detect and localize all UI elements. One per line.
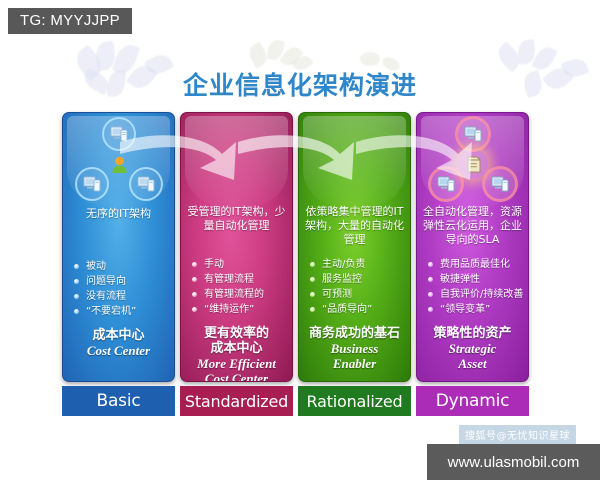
list-item: 手动 <box>191 257 288 272</box>
summary-en-line1: More Efficient <box>184 356 289 371</box>
summary-cn: 策略性的资产 <box>420 326 525 341</box>
url-watermark: www.ulasmobil.com <box>427 444 600 480</box>
computer-icon <box>431 169 461 199</box>
list-item: 可预测 <box>309 287 406 302</box>
summary-cn-line1: 更有效率的 <box>184 326 289 341</box>
list-item: “不要宕机” <box>73 304 170 319</box>
list-item: 问题导向 <box>73 274 170 289</box>
stage-label-rationalized[interactable]: Rationalized <box>298 386 411 416</box>
list-item: 主动/负责 <box>309 257 406 272</box>
summary-en-line2: Asset <box>420 356 525 371</box>
column-summary: 策略性的资产 Strategic Asset <box>417 326 528 371</box>
column-basic[interactable]: 无序的IT架构 被动 问题导向 没有流程 “不要宕机” 成本中心 Cost Ce… <box>62 112 175 382</box>
list-item: 费用品质最佳化 <box>427 257 524 272</box>
server-icon <box>458 149 488 179</box>
computer-icon <box>458 119 488 149</box>
summary-en-line1: Strategic <box>420 341 525 356</box>
summary-en-line2: Cost Center <box>184 371 289 382</box>
column-headline: 依策略集中管理的IT架构，大量的自动化管理 <box>299 205 410 251</box>
computer-icon <box>77 169 107 199</box>
stage-label-basic[interactable]: Basic <box>62 386 175 416</box>
list-item: 敏捷弹性 <box>427 272 524 287</box>
list-item: 没有流程 <box>73 289 170 304</box>
summary-en-line1: Business <box>302 341 407 356</box>
column-headline: 受管理的IT架构，少量自动化管理 <box>181 205 292 251</box>
icon-cluster-rationalized <box>299 117 410 205</box>
icon-cluster-standardized <box>181 117 292 205</box>
icon-cluster-basic <box>63 117 174 205</box>
column-rationalized[interactable]: 依策略集中管理的IT架构，大量的自动化管理 主动/负责 服务监控 可预测 “品质… <box>298 112 411 382</box>
tg-watermark-badge: TG: MYYJJPP <box>8 8 132 34</box>
column-bullets: 费用品质最佳化 敏捷弹性 自我评价/持续改善 “领导变革” <box>417 257 528 317</box>
column-bullets: 被动 问题导向 没有流程 “不要宕机” <box>63 259 174 319</box>
list-item: 服务监控 <box>309 272 406 287</box>
computer-icon <box>131 169 161 199</box>
column-headline: 全自动化管理，资源弹性云化运用，企业导向的SLA <box>417 205 528 251</box>
slide-canvas: 企业信息化架构演进 <box>0 0 600 480</box>
list-item: 有管理流程的 <box>191 287 288 302</box>
column-summary: 成本中心 Cost Center <box>63 328 174 358</box>
list-item: “品质导向” <box>309 302 406 317</box>
slide-title: 企业信息化架构演进 <box>0 66 600 102</box>
column-summary: 商务成功的基石 Business Enabler <box>299 326 410 371</box>
summary-cn: 成本中心 <box>66 328 171 343</box>
list-item: 被动 <box>73 259 170 274</box>
column-summary: 更有效率的 成本中心 More Efficient Cost Center <box>181 326 292 382</box>
column-headline: 无序的IT架构 <box>63 205 174 253</box>
column-bullets: 主动/负责 服务监控 可预测 “品质导向” <box>299 257 410 317</box>
summary-en: Cost Center <box>66 343 171 358</box>
computer-icon <box>485 169 515 199</box>
list-item: 有管理流程 <box>191 272 288 287</box>
list-item: 自我评价/持续改善 <box>427 287 524 302</box>
column-standardized[interactable]: 受管理的IT架构，少量自动化管理 手动 有管理流程 有管理流程的 “维持运作” … <box>180 112 293 382</box>
computer-icon <box>104 119 134 149</box>
list-item: “维持运作” <box>191 302 288 317</box>
list-item: “领导变革” <box>427 302 524 317</box>
stage-label-standardized[interactable]: Standardized <box>180 386 293 416</box>
maturity-columns: 无序的IT架构 被动 问题导向 没有流程 “不要宕机” 成本中心 Cost Ce… <box>62 112 534 382</box>
stage-label-dynamic[interactable]: Dynamic <box>416 386 529 416</box>
summary-cn-line2: 成本中心 <box>184 341 289 356</box>
column-dynamic[interactable]: 全自动化管理，资源弹性云化运用，企业导向的SLA 费用品质最佳化 敏捷弹性 自我… <box>416 112 529 382</box>
summary-en-line2: Enabler <box>302 356 407 371</box>
icon-cluster-dynamic <box>417 117 528 205</box>
stage-label-bar: Basic Standardized Rationalized Dynamic <box>62 386 534 416</box>
summary-cn: 商务成功的基石 <box>302 326 407 341</box>
sohu-watermark: 搜狐号@无忧知识星球 <box>459 425 576 444</box>
person-icon <box>104 149 134 179</box>
column-bullets: 手动 有管理流程 有管理流程的 “维持运作” <box>181 257 292 317</box>
